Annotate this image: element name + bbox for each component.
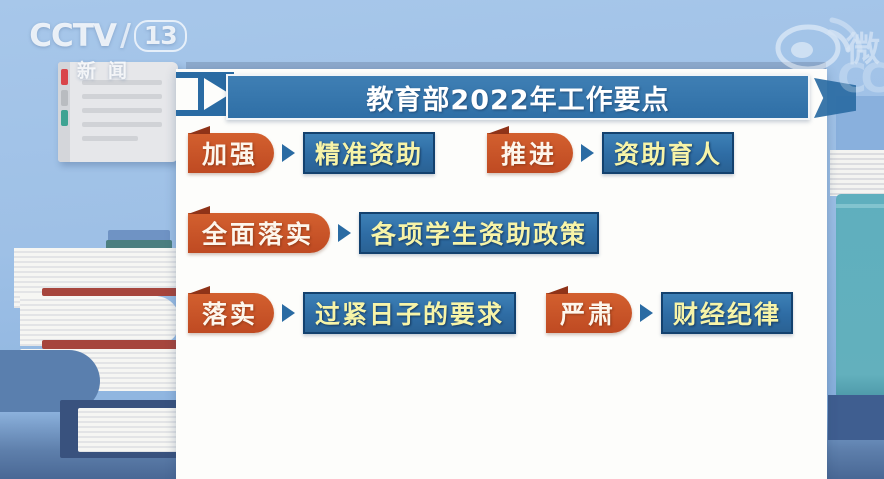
book-pages (20, 296, 180, 346)
point-pair: 严肃 财经纪律 (546, 292, 793, 334)
list-item: 加强 精准资助 推进 资助育人 (176, 130, 827, 176)
point-pair: 加强 精准资助 (188, 132, 435, 174)
weibo-watermark: 微 CC (770, 4, 880, 96)
point-pair: 全面落实 各项学生资助政策 (188, 212, 599, 254)
channel-logo: CCTV / 13 新闻 (28, 18, 188, 90)
action-tag: 全面落实 (188, 213, 330, 253)
broadcast-frame: 教育部2022年工作要点 加强 精准资助 推进 资助育人 全面落实 各项学生资助… (0, 0, 884, 479)
action-tag: 落实 (188, 293, 274, 333)
right-book-pages (830, 150, 884, 196)
topic-chip: 各项学生资助政策 (359, 212, 599, 254)
action-tag: 严肃 (546, 293, 632, 333)
action-tag: 推进 (487, 133, 573, 173)
list-item: 落实 过紧日子的要求 严肃 财经纪律 (176, 290, 827, 336)
triangle-right-icon (338, 224, 351, 242)
page-title: 教育部2022年工作要点 (366, 78, 669, 117)
channel-subtitle: 新闻 (28, 56, 188, 83)
book-spine-red (42, 340, 182, 349)
book-text-line (82, 136, 138, 141)
book-text-line (82, 94, 162, 99)
bookmark-grey-icon (61, 90, 68, 106)
triangle-right-icon (640, 304, 653, 322)
channel-logo-row: CCTV / 13 (28, 18, 188, 54)
action-tag: 加强 (188, 133, 274, 173)
book-spine-red (42, 288, 182, 296)
point-pair: 推进 资助育人 (487, 132, 734, 174)
cctv-wordmark: CCTV (29, 18, 116, 54)
points-list: 加强 精准资助 推进 资助育人 全面落实 各项学生资助政策 落实 过紧日子 (176, 130, 827, 370)
point-pair: 落实 过紧日子的要求 (188, 292, 516, 334)
triangle-right-icon (581, 144, 594, 162)
topic-chip: 资助育人 (602, 132, 734, 174)
list-item: 全面落实 各项学生资助政策 (176, 210, 827, 256)
right-book-teal (836, 194, 884, 399)
logo-slash: / (120, 18, 130, 54)
book-pages (78, 408, 188, 452)
topic-chip: 过紧日子的要求 (303, 292, 516, 334)
cc-watermark-label: CC (837, 56, 884, 102)
channel-number: 13 (134, 20, 187, 52)
bookmark-teal-icon (61, 110, 68, 126)
right-book-navy (828, 395, 884, 440)
title-banner-box: 教育部2022年工作要点 (226, 74, 810, 120)
book-text-line (82, 108, 162, 113)
topic-chip: 财经纪律 (661, 292, 793, 334)
triangle-right-icon (282, 144, 295, 162)
title-banner: 教育部2022年工作要点 (176, 72, 856, 120)
book-text-line (82, 122, 162, 127)
topic-chip: 精准资助 (303, 132, 435, 174)
triangle-right-icon (282, 304, 295, 322)
